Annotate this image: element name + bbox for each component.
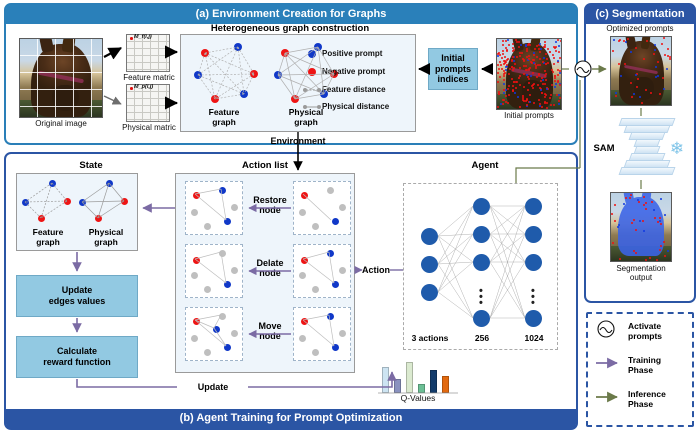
graph-node-negative [95,215,102,222]
physical-matrix-dot [130,87,133,90]
legend-feature-distance-label: Feature distance [322,86,414,95]
original-image [19,38,103,118]
nn-node-hidden [473,310,490,327]
nn-label-actions: 3 actions [404,334,456,344]
graph-node-positive [219,187,226,194]
nn-node-hidden [473,198,490,215]
graph-node-positive [194,71,202,79]
state-feature-graph-label: Featuregraph [20,228,76,247]
action-result-restore[interactable] [185,181,243,235]
action-source-delete[interactable] [293,244,351,298]
initial-prompts-image [496,38,562,110]
feature-graph-label: Featuregraph [186,108,262,127]
graph-node-negative [193,192,200,199]
graph-node-positive [332,218,339,225]
graph-node-negative [211,95,219,103]
graph-node-negative [301,257,308,264]
graph-node-inactive [204,286,211,293]
graph-node-positive [224,344,231,351]
graph-node-inactive [299,209,306,216]
q-bar [418,384,425,393]
graph-node-positive [106,180,113,187]
update-edges-line2: edges values [49,296,106,306]
graph-node-positive [79,199,86,206]
legend-inference-phase-label: InferencePhase [628,390,692,409]
graph-node-inactive [339,204,346,211]
calculate-reward-box[interactable]: Calculate reward function [16,336,138,378]
update-edges-box[interactable]: Update edges values [16,275,138,317]
graph-node-negative [250,70,258,78]
panel-a-title: (a) Environment Creation for Graphs [6,5,576,24]
graph-node-positive [240,90,248,98]
ipi-line3: indices [437,74,468,84]
graph-node-inactive [327,187,334,194]
graph-node-positive [234,43,242,51]
feature-matrix-dot [130,37,133,40]
ipi-line2: prompts [435,64,471,74]
panel-c-title: (c) Segmentation [586,5,694,24]
graph-node-negative [64,198,71,205]
graph-node-inactive [299,335,306,342]
panel-b-title: (b) Agent Training for Prompt Optimizati… [6,409,576,428]
graph-node-inactive [204,349,211,356]
nn-ellipsis-hidden: ••• [479,288,483,306]
action-list-title: Action list [210,160,320,171]
nn-label-256: 256 [458,334,506,344]
sam-slab [619,167,676,175]
graph-node-negative [193,257,200,264]
nn-ellipsis-output: ••• [531,288,535,306]
nn-node-input [421,228,438,245]
graph-node-inactive [231,204,238,211]
graph-node-negative [301,192,308,199]
graph-node-negative [281,49,289,57]
update-edges-line1: Update [62,285,93,295]
calc-reward-line1: Calculate [57,346,97,356]
legend-activate-prompts-label: Activateprompts [628,322,692,341]
graph-node-inactive [312,223,319,230]
prompt-dots-overlay [611,37,671,105]
q-bar [430,370,437,393]
graph-node-positive [22,199,29,206]
nn-node-output [525,254,542,271]
q-bar [406,362,413,393]
graph-node-positive [332,281,339,288]
action-arrow-label: Action [355,265,397,275]
nn-node-output [525,310,542,327]
prompt-dots-overlay [611,193,671,261]
legend-physical-distance-label: Physical distance [322,103,414,112]
graph-node-inactive [339,267,346,274]
heterogeneous-graph-title: Heterogeneous graph construction [150,23,430,34]
graph-node-inactive [312,286,319,293]
action-label-move: Movenode [246,321,294,341]
graph-node-inactive [312,349,319,356]
graph-node-inactive [191,272,198,279]
graph-node-inactive [219,313,226,320]
feature-matrix-symbol: M_f(i,j) [134,34,152,40]
update-arrow-label: Update [178,382,248,392]
graph-node-positive [49,180,56,187]
initial-prompts-label: Initial prompts [490,112,568,121]
physical-matrix-label: Physical matric [118,124,180,133]
initial-prompts-indices-box[interactable]: Initial prompts indices [428,48,478,90]
nn-node-input [421,284,438,301]
graph-node-positive [224,218,231,225]
q-values-label: Q-Values [378,394,458,404]
graph-node-negative [38,215,45,222]
nn-node-output [525,198,542,215]
q-bar [382,367,389,393]
agent-title: Agent [430,160,540,171]
action-result-delete[interactable] [185,244,243,298]
legend-positive-dot [308,50,316,58]
nn-node-hidden [473,254,490,271]
action-label-delete: Delatenode [246,258,294,278]
original-image-label: Original image [14,120,108,129]
state-title: State [36,160,146,171]
graph-node-negative [121,198,128,205]
calc-reward-line2: reward function [43,357,111,367]
nn-node-input [421,256,438,273]
optimized-prompts-image [610,36,672,106]
nn-node-output [525,226,542,243]
graph-node-positive [327,313,334,320]
action-source-move[interactable] [293,307,351,361]
physical-matrix-symbol: M_p(i,j) [134,84,153,90]
nn-label-1024: 1024 [510,334,558,344]
graph-node-positive [327,250,334,257]
action-label-restore: Restorenode [246,195,294,215]
legend-negative-dot [308,68,316,76]
q-bar [442,376,449,393]
optimized-prompts-label: Optimized prompts [590,25,690,34]
graph-node-negative [301,318,308,325]
q-values-chart [382,360,454,393]
graph-node-negative [193,318,200,325]
graph-node-negative [291,95,299,103]
state-physical-graph-label: Physicalgraph [78,228,134,247]
graph-node-inactive [231,330,238,337]
grid-overlay [20,39,102,117]
graph-node-inactive [339,330,346,337]
graph-node-positive [332,344,339,351]
legend-positive-label: Positive prompt [322,50,414,59]
graph-node-inactive [204,223,211,230]
nn-node-hidden [473,226,490,243]
environment-label: Environment [248,136,348,146]
prompt-dots-overlay [497,39,561,109]
segmentation-output-image [610,192,672,262]
q-bar [394,379,401,393]
graph-node-inactive [191,335,198,342]
legend-training-phase-label: TrainingPhase [628,356,692,375]
sam-label: SAM [588,144,620,155]
graph-node-inactive [231,267,238,274]
graph-node-inactive [191,209,198,216]
feature-matrix-label: Feature matric [120,74,178,83]
graph-node-positive [314,43,322,51]
graph-node-negative [201,49,209,57]
action-result-move[interactable] [185,307,243,361]
graph-node-inactive [299,272,306,279]
graph-node-positive [213,326,220,333]
legend-negative-label: Negative prompt [322,68,414,77]
action-source-restore[interactable] [293,181,351,235]
graph-node-inactive [219,250,226,257]
segmentation-output-label: Segmentationoutput [608,265,674,283]
graph-node-positive [274,71,282,79]
snowflake-icon: ❄ [668,140,686,158]
ipi-line1: Initial [441,53,465,63]
graph-node-positive [224,281,231,288]
